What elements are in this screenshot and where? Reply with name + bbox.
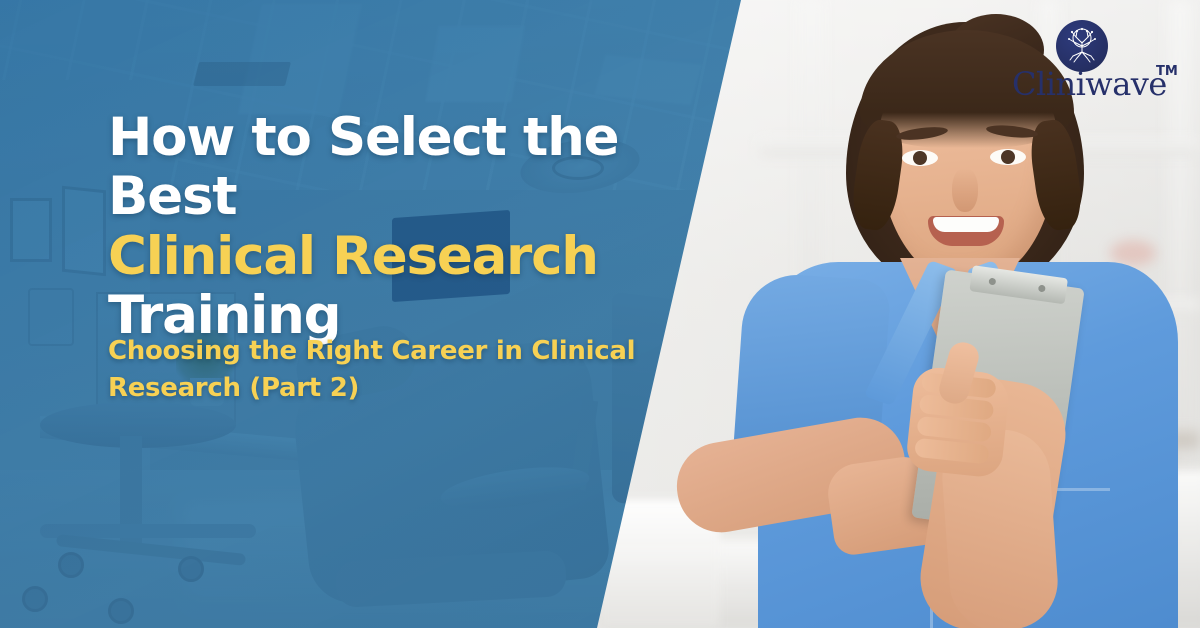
headline-line-1: How to Select the Best: [108, 108, 728, 227]
headline-line-2-accent: Clinical Research: [108, 227, 728, 286]
nose: [952, 168, 978, 212]
eye: [990, 149, 1026, 165]
logo-wordmark: Cliniwave: [1012, 68, 1164, 100]
smiling-mouth: [928, 216, 1004, 246]
headline-block: How to Select the Best Clinical Research…: [108, 108, 728, 345]
blog-banner: How to Select the Best Clinical Research…: [0, 0, 1200, 628]
teeth: [933, 217, 999, 232]
clip-rivet: [988, 278, 996, 286]
cliniwave-logo[interactable]: Cliniwave TM: [1012, 20, 1188, 108]
clip-rivet: [1038, 285, 1046, 293]
subtitle: Choosing the Right Career in Clinical Re…: [108, 333, 668, 407]
page-title: How to Select the Best Clinical Research…: [108, 108, 728, 345]
trademark-symbol: TM: [1156, 64, 1178, 79]
finger: [914, 438, 990, 465]
eye: [902, 150, 938, 166]
